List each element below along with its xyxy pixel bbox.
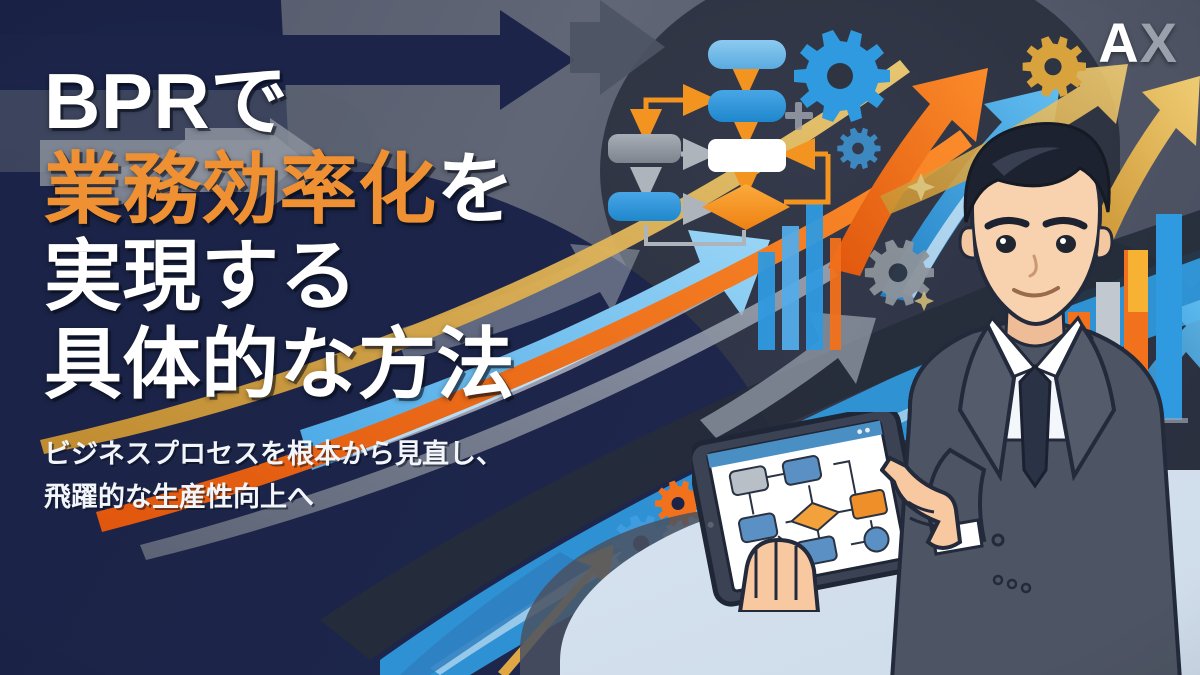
- subtitle-line-1: ビジネスプロセスを根本から見直し、: [44, 434, 604, 475]
- eye-highlight-overlay: [1060, 238, 1066, 244]
- businessman-overlay: [880, 110, 1200, 675]
- eye-highlight-overlay: [1000, 238, 1006, 244]
- headline-line-2-tail: を: [437, 145, 516, 233]
- logo-letter-a: A: [1098, 11, 1139, 74]
- headline-line-4: 具体的な方法: [44, 325, 604, 405]
- flow-connector: [646, 225, 744, 244]
- brand-logo: AX: [1098, 10, 1178, 75]
- flow-node-step-1: [708, 90, 786, 122]
- headline-line-3: 実現する: [44, 237, 604, 317]
- gear-gold-icon: [1023, 36, 1086, 97]
- headline-accent-text: 業務効率化: [44, 145, 437, 233]
- headline-block: BPRで 業務効率化を 実現する 具体的な方法 ビジネスプロセスを根本から見直し…: [44, 62, 604, 517]
- ear-overlay: [960, 228, 974, 258]
- flow-node-process: [708, 139, 786, 172]
- necktie-overlay: [1020, 366, 1050, 486]
- headline-line-2: 業務効率化を: [44, 150, 604, 230]
- flow-node-decision: [702, 184, 790, 230]
- flowchart-diagram: [596, 22, 896, 297]
- headline-line-1: BPRで: [44, 62, 604, 142]
- hero-banner: BPRで 業務効率化を 実現する 具体的な方法 ビジネスプロセスを根本から見直し…: [0, 0, 1200, 675]
- ear-overlay: [1098, 228, 1112, 258]
- eye-overlay: [1056, 235, 1076, 253]
- flow-connector: [784, 154, 828, 202]
- flow-node-start: [708, 40, 786, 69]
- hand-holding-tablet-overlay: [740, 540, 818, 612]
- subtitle-line-2: 飛躍的な生産性向上へ: [44, 477, 604, 518]
- eye-overlay: [996, 235, 1016, 253]
- subtitle-block: ビジネスプロセスを根本から見直し、 飛躍的な生産性向上へ: [44, 434, 604, 517]
- flow-connector: [646, 100, 708, 134]
- flow-node-step-2: [608, 134, 681, 163]
- logo-letter-x: X: [1140, 11, 1178, 74]
- flow-node-step-3: [608, 192, 681, 221]
